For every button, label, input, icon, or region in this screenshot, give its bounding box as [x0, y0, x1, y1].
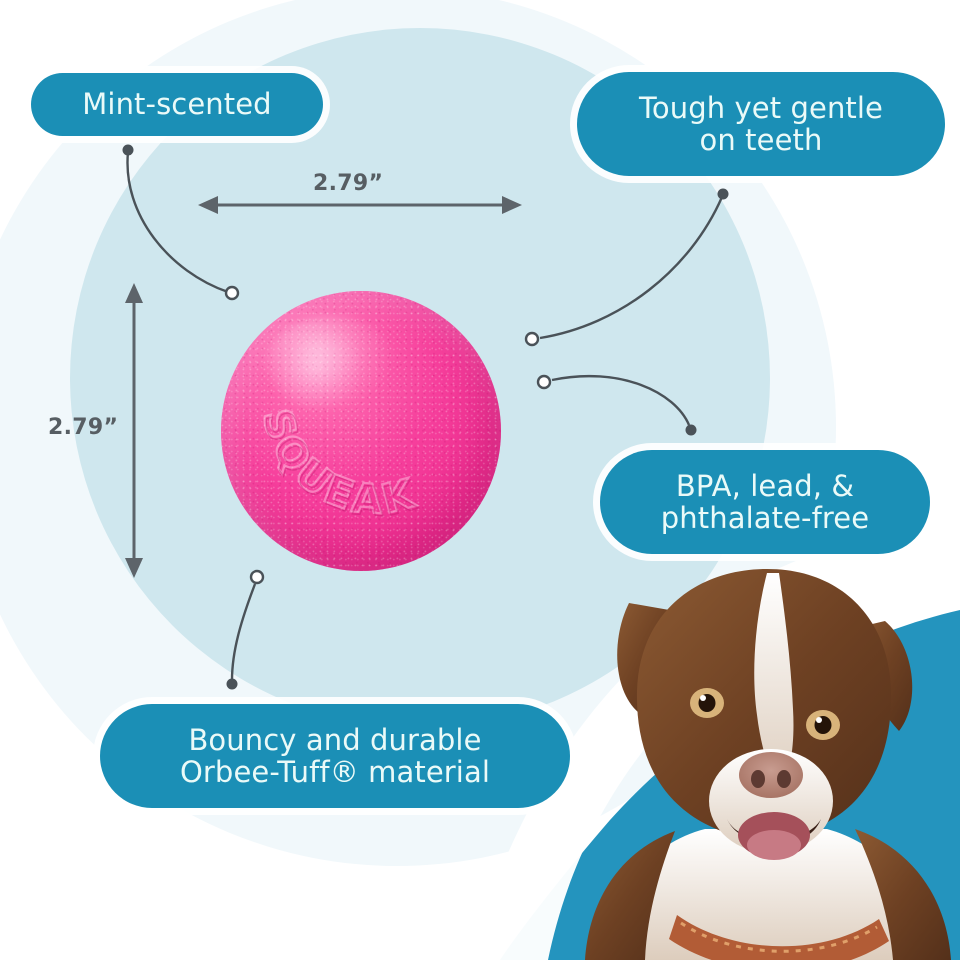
callout-orbee-tuff-line1: Bouncy and durable — [180, 724, 490, 756]
dog-nose — [739, 752, 803, 798]
callout-bpa-free-line1: BPA, lead, & — [661, 470, 869, 502]
product-ball: SQUEAK SQUEAK — [221, 291, 501, 571]
callout-mint-scented[interactable]: Mint-scented — [31, 73, 323, 136]
callout-bpa-free[interactable]: BPA, lead, & phthalate-free — [600, 450, 930, 554]
callout-tough-gentle[interactable]: Tough yet gentle on teeth — [577, 72, 945, 176]
callout-orbee-tuff[interactable]: Bouncy and durable Orbee-Tuff® material — [100, 704, 570, 808]
ball-highlight — [266, 316, 395, 411]
width-dimension-label: 2.79” — [313, 171, 383, 196]
callout-tough-gentle-line2: on teeth — [639, 124, 883, 156]
dog-tongue — [747, 830, 801, 860]
callout-mint-scented-line1: Mint-scented — [82, 88, 271, 120]
infographic-canvas: SQUEAK SQUEAK 2.79” 2.79” — [0, 0, 960, 960]
height-dimension-label: 2.79” — [48, 415, 118, 440]
callout-orbee-tuff-line2: Orbee-Tuff® material — [180, 756, 490, 788]
dog-photo — [555, 563, 960, 960]
callout-tough-gentle-line1: Tough yet gentle — [639, 92, 883, 124]
callout-bpa-free-line2: phthalate-free — [661, 502, 869, 534]
dog-illustration — [555, 563, 960, 960]
